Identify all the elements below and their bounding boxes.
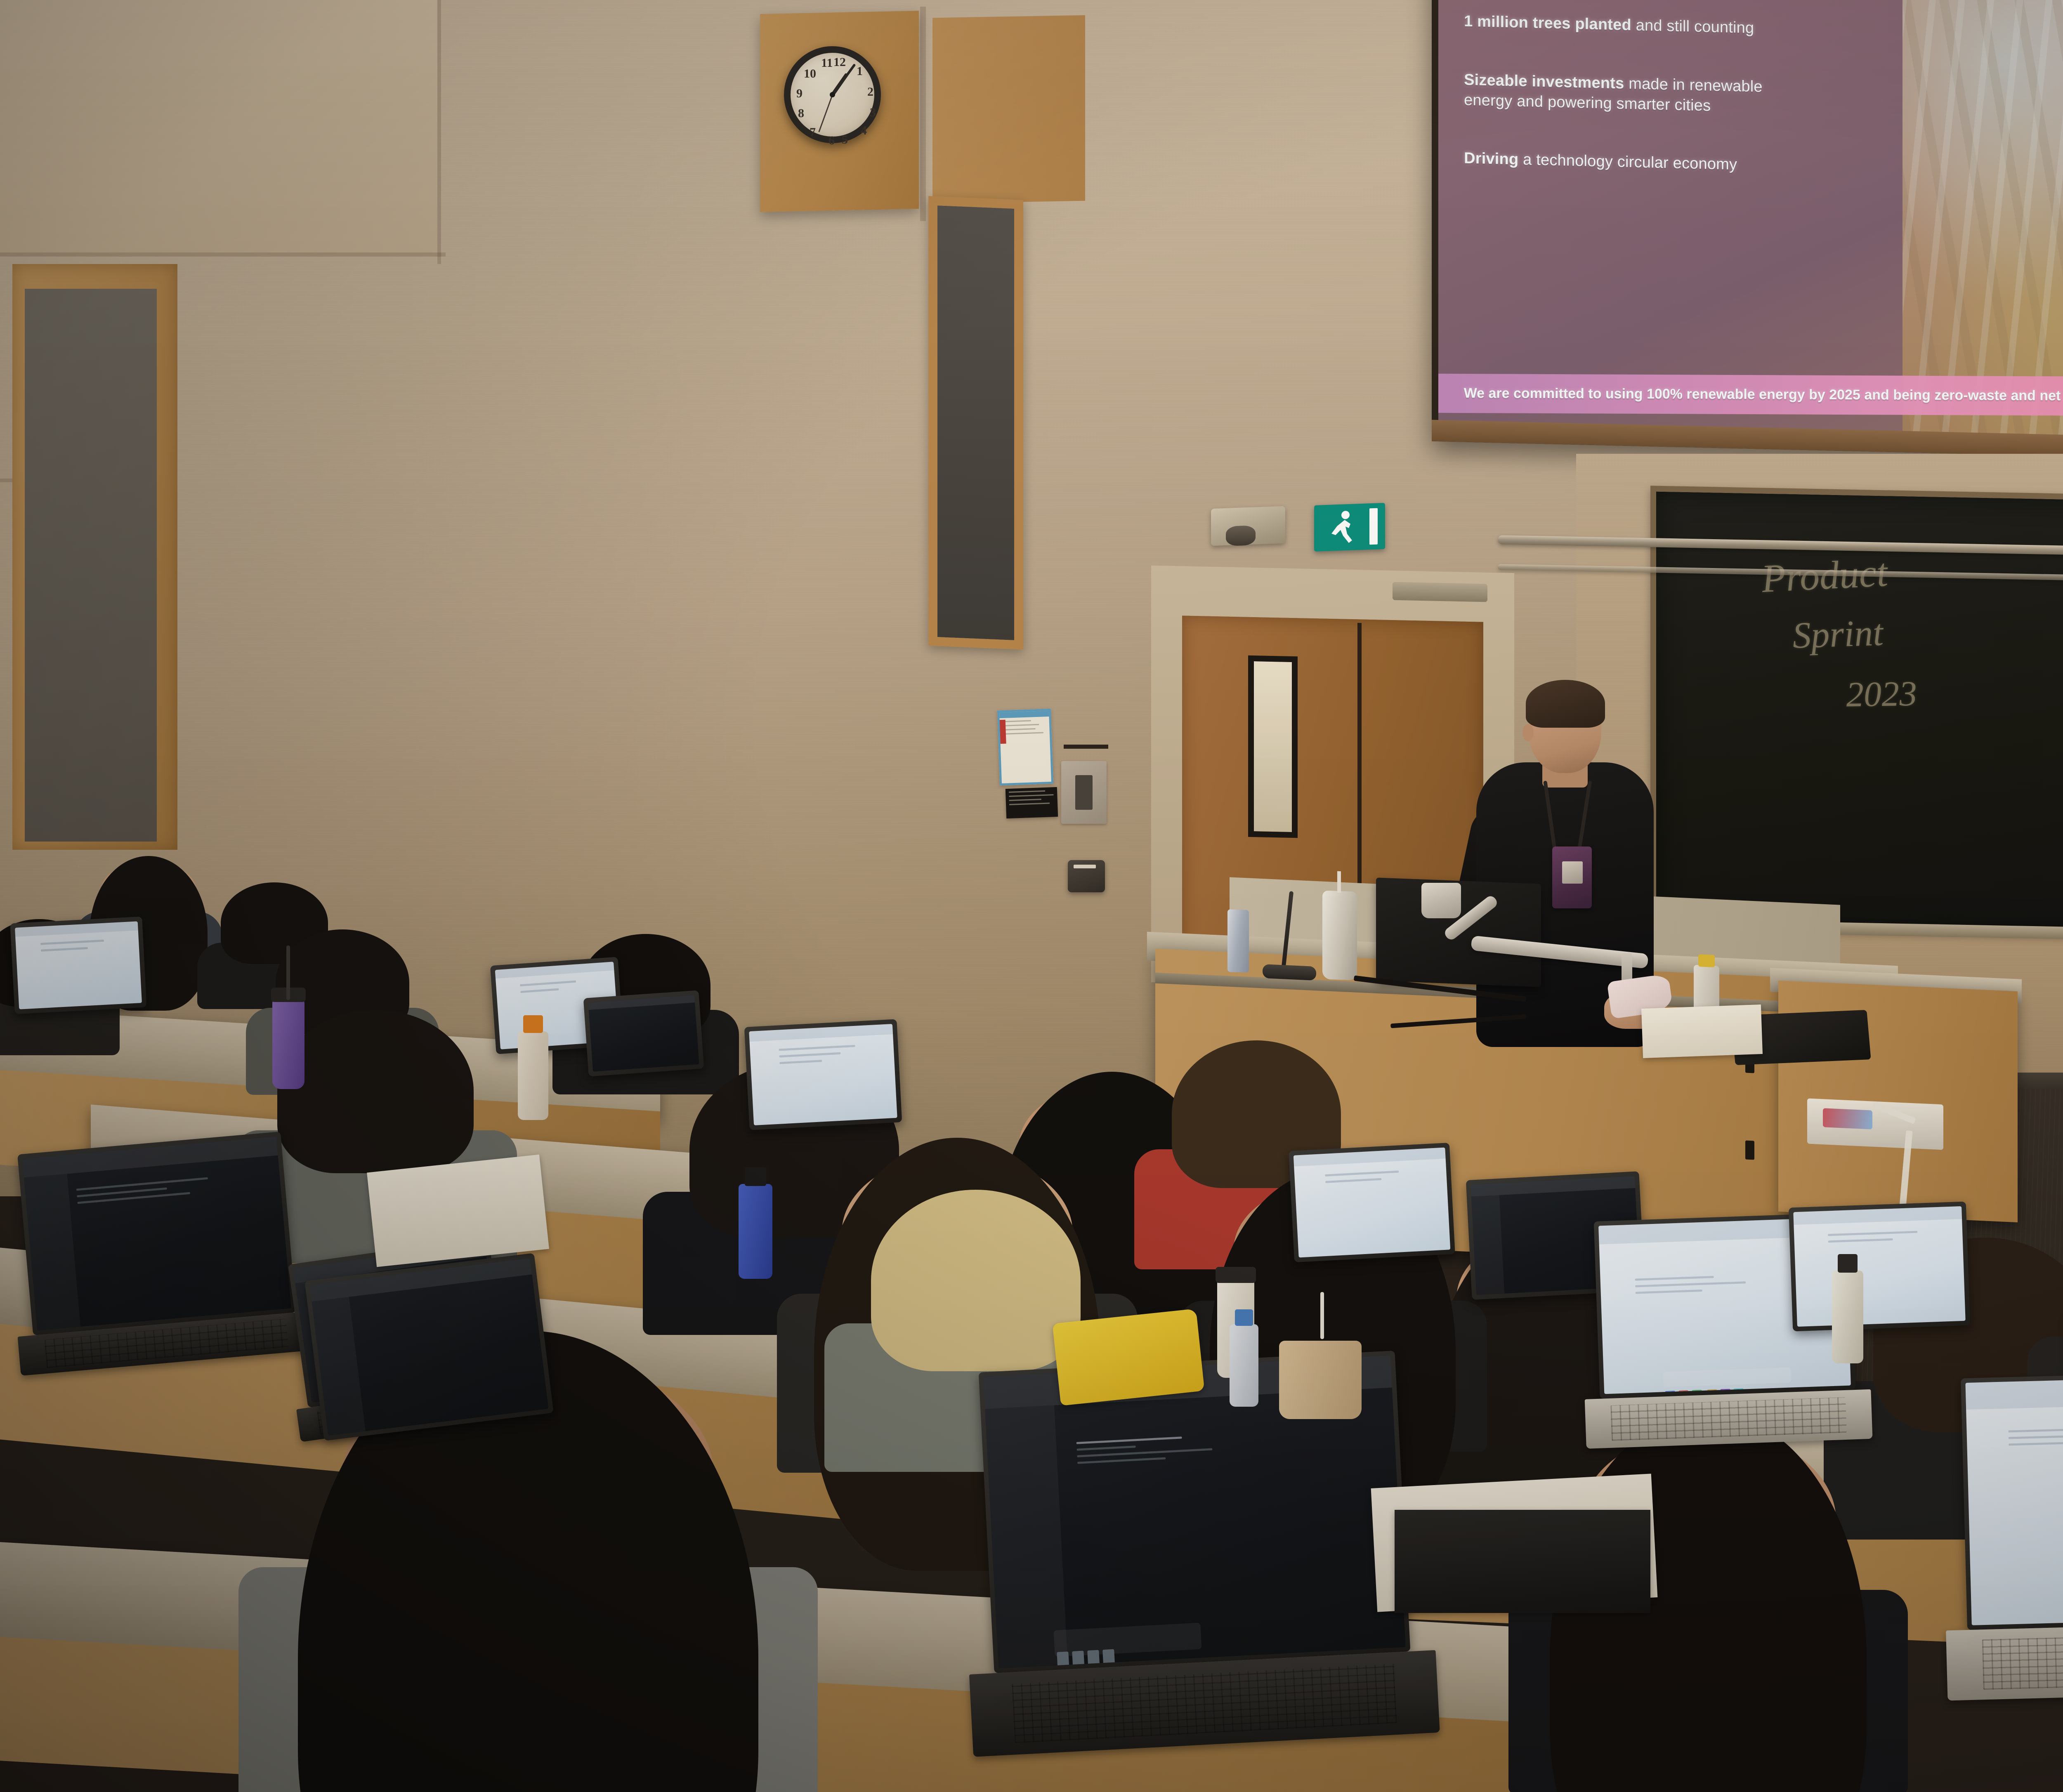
- wall-clock: 12 1 2 3 4 5 6 7 8 9 10 11: [784, 46, 881, 143]
- laptop-foreground[interactable]: [1961, 1369, 2063, 1630]
- exit-sign: [1314, 503, 1385, 552]
- laptop[interactable]: [17, 1132, 296, 1335]
- clock-numeral: 12: [833, 55, 846, 69]
- emergency-light: [1211, 506, 1285, 546]
- projection-screen: North America's largest environmentally …: [1432, 0, 2063, 483]
- stanley-tumbler[interactable]: [1322, 891, 1357, 981]
- laptop[interactable]: [1789, 1202, 1970, 1332]
- emergency-procedures-notice: [997, 709, 1053, 785]
- clock-numeral: 7: [810, 125, 816, 139]
- paper-notes[interactable]: [1641, 1004, 1763, 1058]
- slide-banner-text: We are committed to using 100% renewable…: [1440, 384, 2063, 406]
- wall-wood-panel: [932, 15, 1085, 203]
- microphone-base: [1263, 964, 1316, 981]
- clock-numeral: 3: [870, 106, 876, 120]
- door-window: [1248, 655, 1298, 838]
- wall-seam: [920, 7, 926, 221]
- clock-second-hand: [818, 94, 833, 132]
- clock-numeral: 11: [821, 56, 833, 70]
- closed-laptop[interactable]: [1395, 1510, 1650, 1613]
- chalk-line: Sprint: [1791, 611, 1884, 657]
- wall-control-box[interactable]: [1068, 860, 1105, 892]
- macos-dock: [1663, 1368, 1792, 1387]
- clock-numeral: 6: [829, 134, 835, 148]
- laptop[interactable]: [304, 1253, 553, 1441]
- running-man-icon: [1328, 509, 1360, 545]
- clock-center-pin: [830, 92, 835, 97]
- wall-trim: [1064, 745, 1108, 749]
- wall-seam: [0, 252, 446, 257]
- slide-photo-left: [1902, 0, 2063, 440]
- slide-commitment-banner: We are committed to using 100% renewable…: [1438, 374, 2063, 417]
- clock-numeral: 4: [861, 124, 867, 138]
- exit-door-frame-icon: [1369, 508, 1378, 545]
- water-bottle[interactable]: [1832, 1271, 1863, 1363]
- iced-coffee-cup[interactable]: [1279, 1341, 1362, 1419]
- laptop[interactable]: [1289, 1143, 1455, 1262]
- door-closer: [1393, 582, 1487, 602]
- clock-numeral: 8: [798, 106, 804, 120]
- water-bottle[interactable]: [1230, 1324, 1258, 1407]
- yellow-snack-bag[interactable]: [1053, 1309, 1205, 1405]
- laptop[interactable]: [10, 917, 146, 1014]
- orange-drink-bottle[interactable]: [518, 1031, 548, 1120]
- presenter-badge: [1552, 846, 1592, 908]
- laptop[interactable]: [583, 990, 704, 1076]
- paper-notes[interactable]: [367, 1155, 549, 1267]
- clock-numeral: 2: [867, 85, 873, 99]
- purple-tumbler[interactable]: [272, 998, 304, 1089]
- slide-line: sustainable real estate footprint: [1464, 0, 1886, 2]
- slide-left-panel: North America's largest environmentally …: [1438, 0, 2063, 440]
- upper-left-wall: [0, 0, 437, 256]
- beverage-can[interactable]: [1227, 909, 1249, 973]
- lecture-hall-scene: 12 1 2 3 4 5 6 7 8 9 10 11: [0, 0, 2063, 1792]
- clock-numeral: 5: [842, 133, 848, 147]
- instruction-placard: [1006, 787, 1058, 818]
- left-acoustic-panel: [25, 289, 157, 842]
- wall-speaker-panel: [928, 196, 1023, 650]
- document-camera-head[interactable]: [1421, 883, 1461, 918]
- wall-seam: [437, 0, 441, 264]
- chalk-line: 2023: [1845, 673, 1917, 715]
- slide-line: 1 million trees planted and still counti…: [1464, 11, 1886, 42]
- clock-numeral: 9: [796, 87, 803, 101]
- clock-numeral: 10: [804, 67, 816, 81]
- clock-numeral: 1: [857, 64, 863, 78]
- av-wall-plate[interactable]: [1061, 761, 1107, 824]
- laptop[interactable]: [744, 1019, 902, 1130]
- presenter-hair: [1526, 680, 1605, 728]
- blue-sports-bottle[interactable]: [739, 1184, 772, 1279]
